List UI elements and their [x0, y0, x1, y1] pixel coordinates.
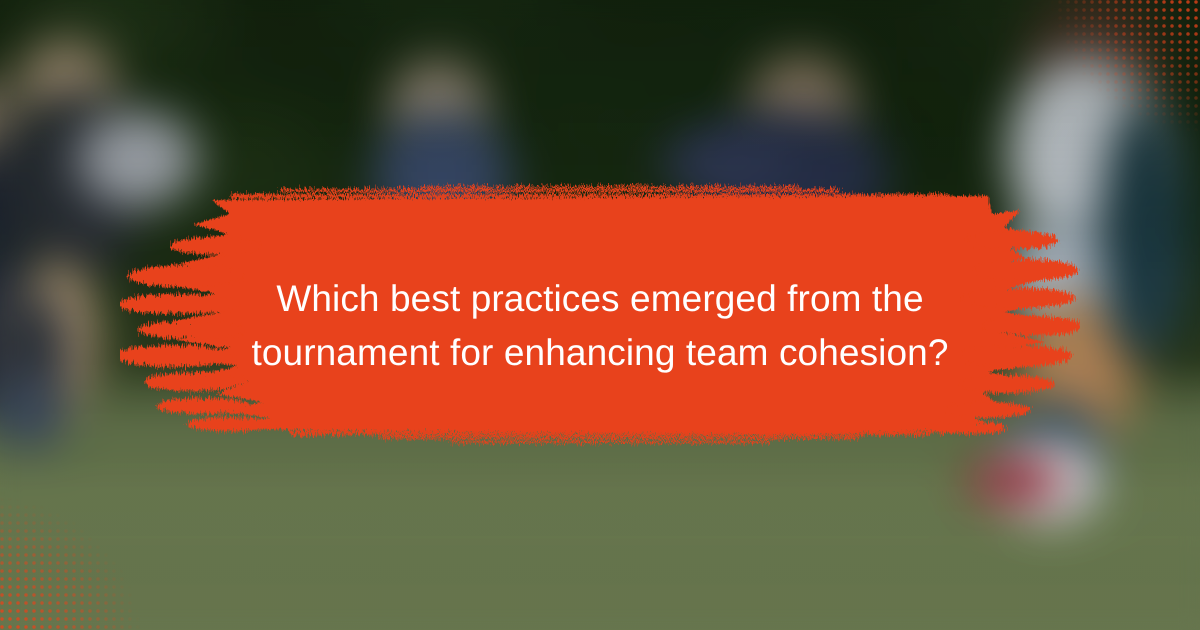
social-share-card: Which best practices emerged from the to…	[0, 0, 1200, 630]
card-headline: Which best practices emerged from the to…	[200, 272, 1000, 380]
